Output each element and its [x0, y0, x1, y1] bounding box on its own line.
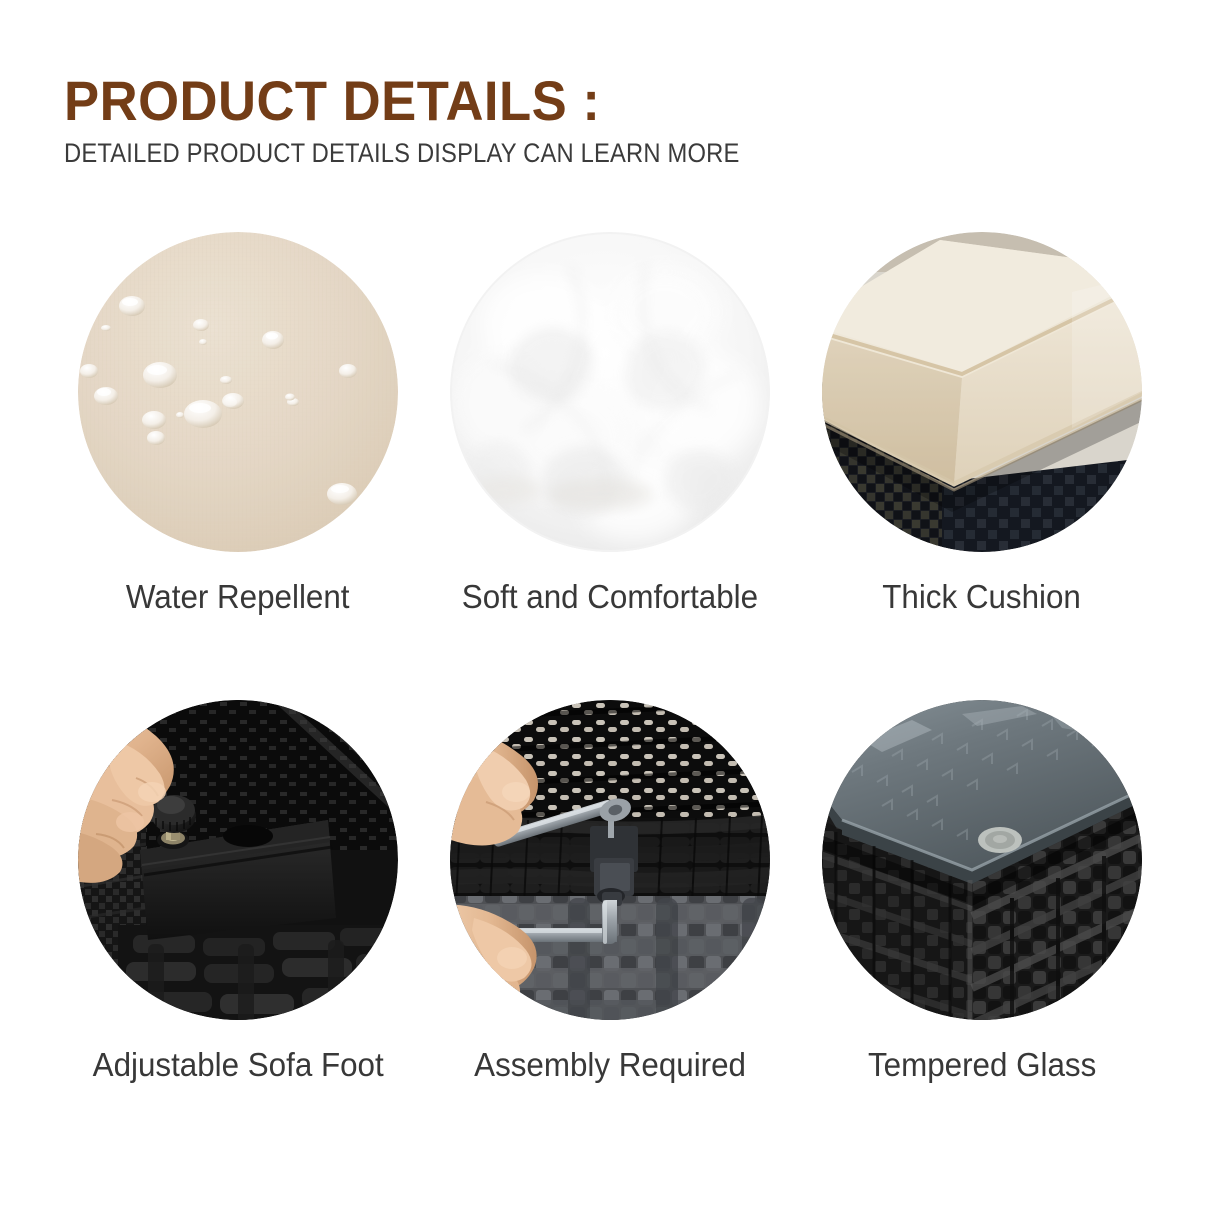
feature-grid: Water Repellent — [0, 232, 1214, 1084]
feature-cell-adjustable-sofa-foot: Adjustable Sofa Foot — [78, 700, 398, 1084]
page-subtitle: DETAILED PRODUCT DETAILS DISPLAY CAN LEA… — [64, 138, 856, 168]
feature-cell-water-repellent: Water Repellent — [78, 232, 398, 616]
feature-image-soft-and-comfortable — [450, 232, 770, 552]
feature-image-tempered-glass — [822, 700, 1142, 1020]
feature-caption-water-repellent: Water Repellent — [126, 578, 350, 616]
header: PRODUCT DETAILS : DETAILED PRODUCT DETAI… — [64, 72, 964, 168]
feature-cell-assembly-required: Assembly Required — [450, 700, 770, 1084]
feature-image-assembly-required — [450, 700, 770, 1020]
feature-caption-adjustable-sofa-foot: Adjustable Sofa Foot — [92, 1046, 383, 1084]
product-details-infographic: PRODUCT DETAILS : DETAILED PRODUCT DETAI… — [0, 0, 1214, 1214]
feature-cell-soft-and-comfortable: Soft and Comfortable — [450, 232, 770, 616]
feature-cell-tempered-glass: Tempered Glass — [822, 700, 1142, 1084]
feature-image-adjustable-sofa-foot — [78, 700, 398, 1020]
feature-image-water-repellent — [78, 232, 398, 552]
feature-caption-thick-cushion: Thick Cushion — [883, 578, 1082, 616]
page-title: PRODUCT DETAILS : — [64, 72, 910, 130]
feature-row-1: Water Repellent — [0, 232, 1214, 616]
feature-caption-tempered-glass: Tempered Glass — [868, 1046, 1096, 1084]
feature-caption-assembly-required: Assembly Required — [474, 1046, 746, 1084]
feature-image-thick-cushion — [822, 232, 1142, 552]
feature-row-2: Adjustable Sofa Foot — [0, 700, 1214, 1084]
feature-cell-thick-cushion: Thick Cushion — [822, 232, 1142, 616]
feature-caption-soft-and-comfortable: Soft and Comfortable — [462, 578, 758, 616]
